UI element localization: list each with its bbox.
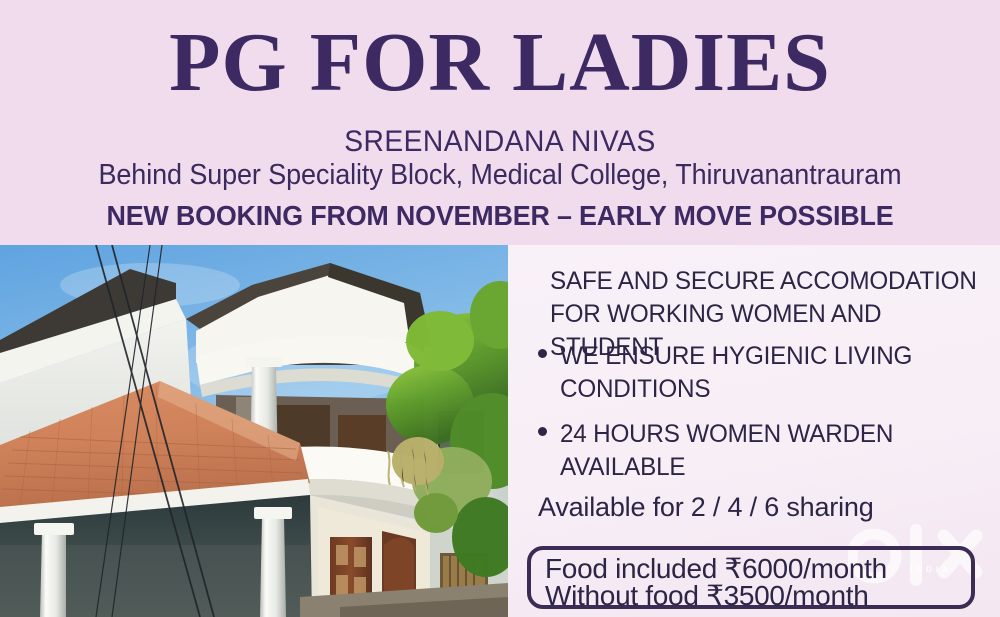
property-address: Behind Super Speciality Block, Medical C… (35, 159, 965, 192)
page-title: PG FOR LADIES (0, 18, 1000, 108)
bullet-icon (538, 349, 547, 358)
list-item-label: 24 HOURS WOMEN WARDEN AVAILABLE (560, 418, 987, 484)
pricing-box: Food included ₹6000/month Without food ₹… (527, 546, 975, 609)
property-photo (0, 245, 508, 617)
bullet-icon (538, 427, 547, 436)
list-item: WE ENSURE HYGIENIC LIVING CONDITIONS (530, 340, 1000, 406)
list-item-label: WE ENSURE HYGIENIC LIVING CONDITIONS (560, 340, 987, 406)
price-without-food: Without food ₹3500/month (545, 581, 975, 611)
list-item: 24 HOURS WOMEN WARDEN AVAILABLE (530, 418, 1000, 484)
booking-note: NEW BOOKING FROM NOVEMBER – EARLY MOVE P… (20, 200, 980, 232)
property-name: SREENANDANA NIVAS (30, 125, 970, 159)
poster-header: PG FOR LADIES SREENANDANA NIVAS Behind S… (0, 0, 1000, 245)
advertisement-poster: PG FOR LADIES SREENANDANA NIVAS Behind S… (0, 0, 1000, 617)
sharing-availability: Available for 2 / 4 / 6 sharing (538, 490, 998, 524)
